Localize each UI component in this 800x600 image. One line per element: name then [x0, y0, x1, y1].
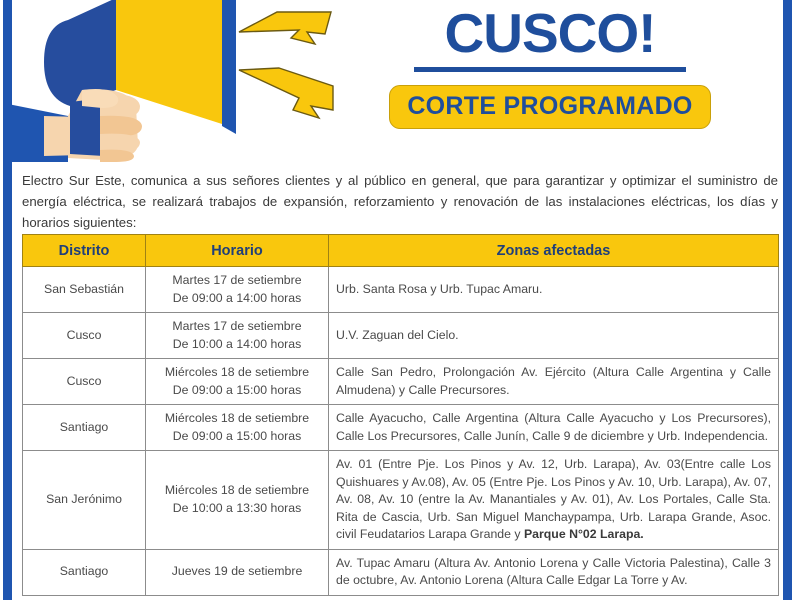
horario-hora: De 10:00 a 14:00 horas — [152, 336, 322, 354]
table-row: CuscoMartes 17 de setiembreDe 10:00 a 14… — [23, 313, 779, 359]
horario-hora: De 09:00 a 14:00 horas — [152, 290, 322, 308]
table-header-row: Distrito Horario Zonas afectadas — [23, 235, 779, 267]
right-accent-bar — [783, 0, 792, 600]
cell-distrito: Cusco — [23, 359, 146, 405]
horario-fecha: Martes 17 de setiembre — [152, 318, 322, 336]
megaphone-icon — [8, 0, 248, 162]
lightning-bolts-icon — [233, 2, 343, 124]
horario-fecha: Miércoles 18 de setiembre — [152, 482, 322, 500]
horario-hora: De 09:00 a 15:00 horas — [152, 382, 322, 400]
table-row: SantiagoJueves 19 de setiembreAv. Tupac … — [23, 549, 779, 595]
poster-header: CUSCO! CORTE PROGRAMADO — [0, 0, 800, 163]
intro-paragraph: Electro Sur Este, comunica a sus señores… — [22, 170, 778, 233]
cell-horario: Jueves 19 de setiembre — [146, 549, 329, 595]
table-row: CuscoMiércoles 18 de setiembreDe 09:00 a… — [23, 359, 779, 405]
cell-horario: Miércoles 18 de setiembreDe 10:00 a 13:3… — [146, 451, 329, 550]
status-badge: CORTE PROGRAMADO — [389, 85, 710, 129]
title-underline — [414, 67, 686, 72]
cell-zonas-afectadas: Av. Tupac Amaru (Altura Av. Antonio Lore… — [329, 549, 779, 595]
horario-fecha: Miércoles 18 de setiembre — [152, 364, 322, 382]
cell-distrito: San Sebastián — [23, 267, 146, 313]
column-header-distrito: Distrito — [23, 235, 146, 267]
cell-zonas-afectadas: U.V. Zaguan del Cielo. — [329, 313, 779, 359]
cell-horario: Martes 17 de setiembreDe 10:00 a 14:00 h… — [146, 313, 329, 359]
page-title: CUSCO! — [370, 0, 730, 61]
horario-fecha: Martes 17 de setiembre — [152, 272, 322, 290]
cell-horario: Martes 17 de setiembreDe 09:00 a 14:00 h… — [146, 267, 329, 313]
column-header-zonas: Zonas afectadas — [329, 235, 779, 267]
cell-zonas-afectadas: Calle Ayacucho, Calle Argentina (Altura … — [329, 405, 779, 451]
cell-distrito: San Jerónimo — [23, 451, 146, 550]
title-block: CUSCO! CORTE PROGRAMADO — [370, 0, 730, 129]
column-header-horario: Horario — [146, 235, 329, 267]
horario-hora: De 10:00 a 13:30 horas — [152, 500, 322, 518]
cell-zonas-afectadas: Calle San Pedro, Prolongación Av. Ejérci… — [329, 359, 779, 405]
table-row: SantiagoMiércoles 18 de setiembreDe 09:0… — [23, 405, 779, 451]
table-row: San JerónimoMiércoles 18 de setiembreDe … — [23, 451, 779, 550]
horario-fecha: Miércoles 18 de setiembre — [152, 410, 322, 428]
zonas-highlight: Parque N°02 Larapa. — [524, 527, 644, 541]
schedule-table-wrapper: Distrito Horario Zonas afectadas San Seb… — [22, 234, 778, 596]
table-row: San SebastiánMartes 17 de setiembreDe 09… — [23, 267, 779, 313]
cell-distrito: Cusco — [23, 313, 146, 359]
cell-zonas-afectadas: Urb. Santa Rosa y Urb. Tupac Amaru. — [329, 267, 779, 313]
cell-distrito: Santiago — [23, 405, 146, 451]
horario-fecha: Jueves 19 de setiembre — [152, 563, 322, 581]
cell-distrito: Santiago — [23, 549, 146, 595]
cell-horario: Miércoles 18 de setiembreDe 09:00 a 15:0… — [146, 405, 329, 451]
schedule-table: Distrito Horario Zonas afectadas San Seb… — [22, 234, 779, 596]
cell-horario: Miércoles 18 de setiembreDe 09:00 a 15:0… — [146, 359, 329, 405]
horario-hora: De 09:00 a 15:00 horas — [152, 428, 322, 446]
cell-zonas-afectadas: Av. 01 (Entre Pje. Los Pinos y Av. 12, U… — [329, 451, 779, 550]
